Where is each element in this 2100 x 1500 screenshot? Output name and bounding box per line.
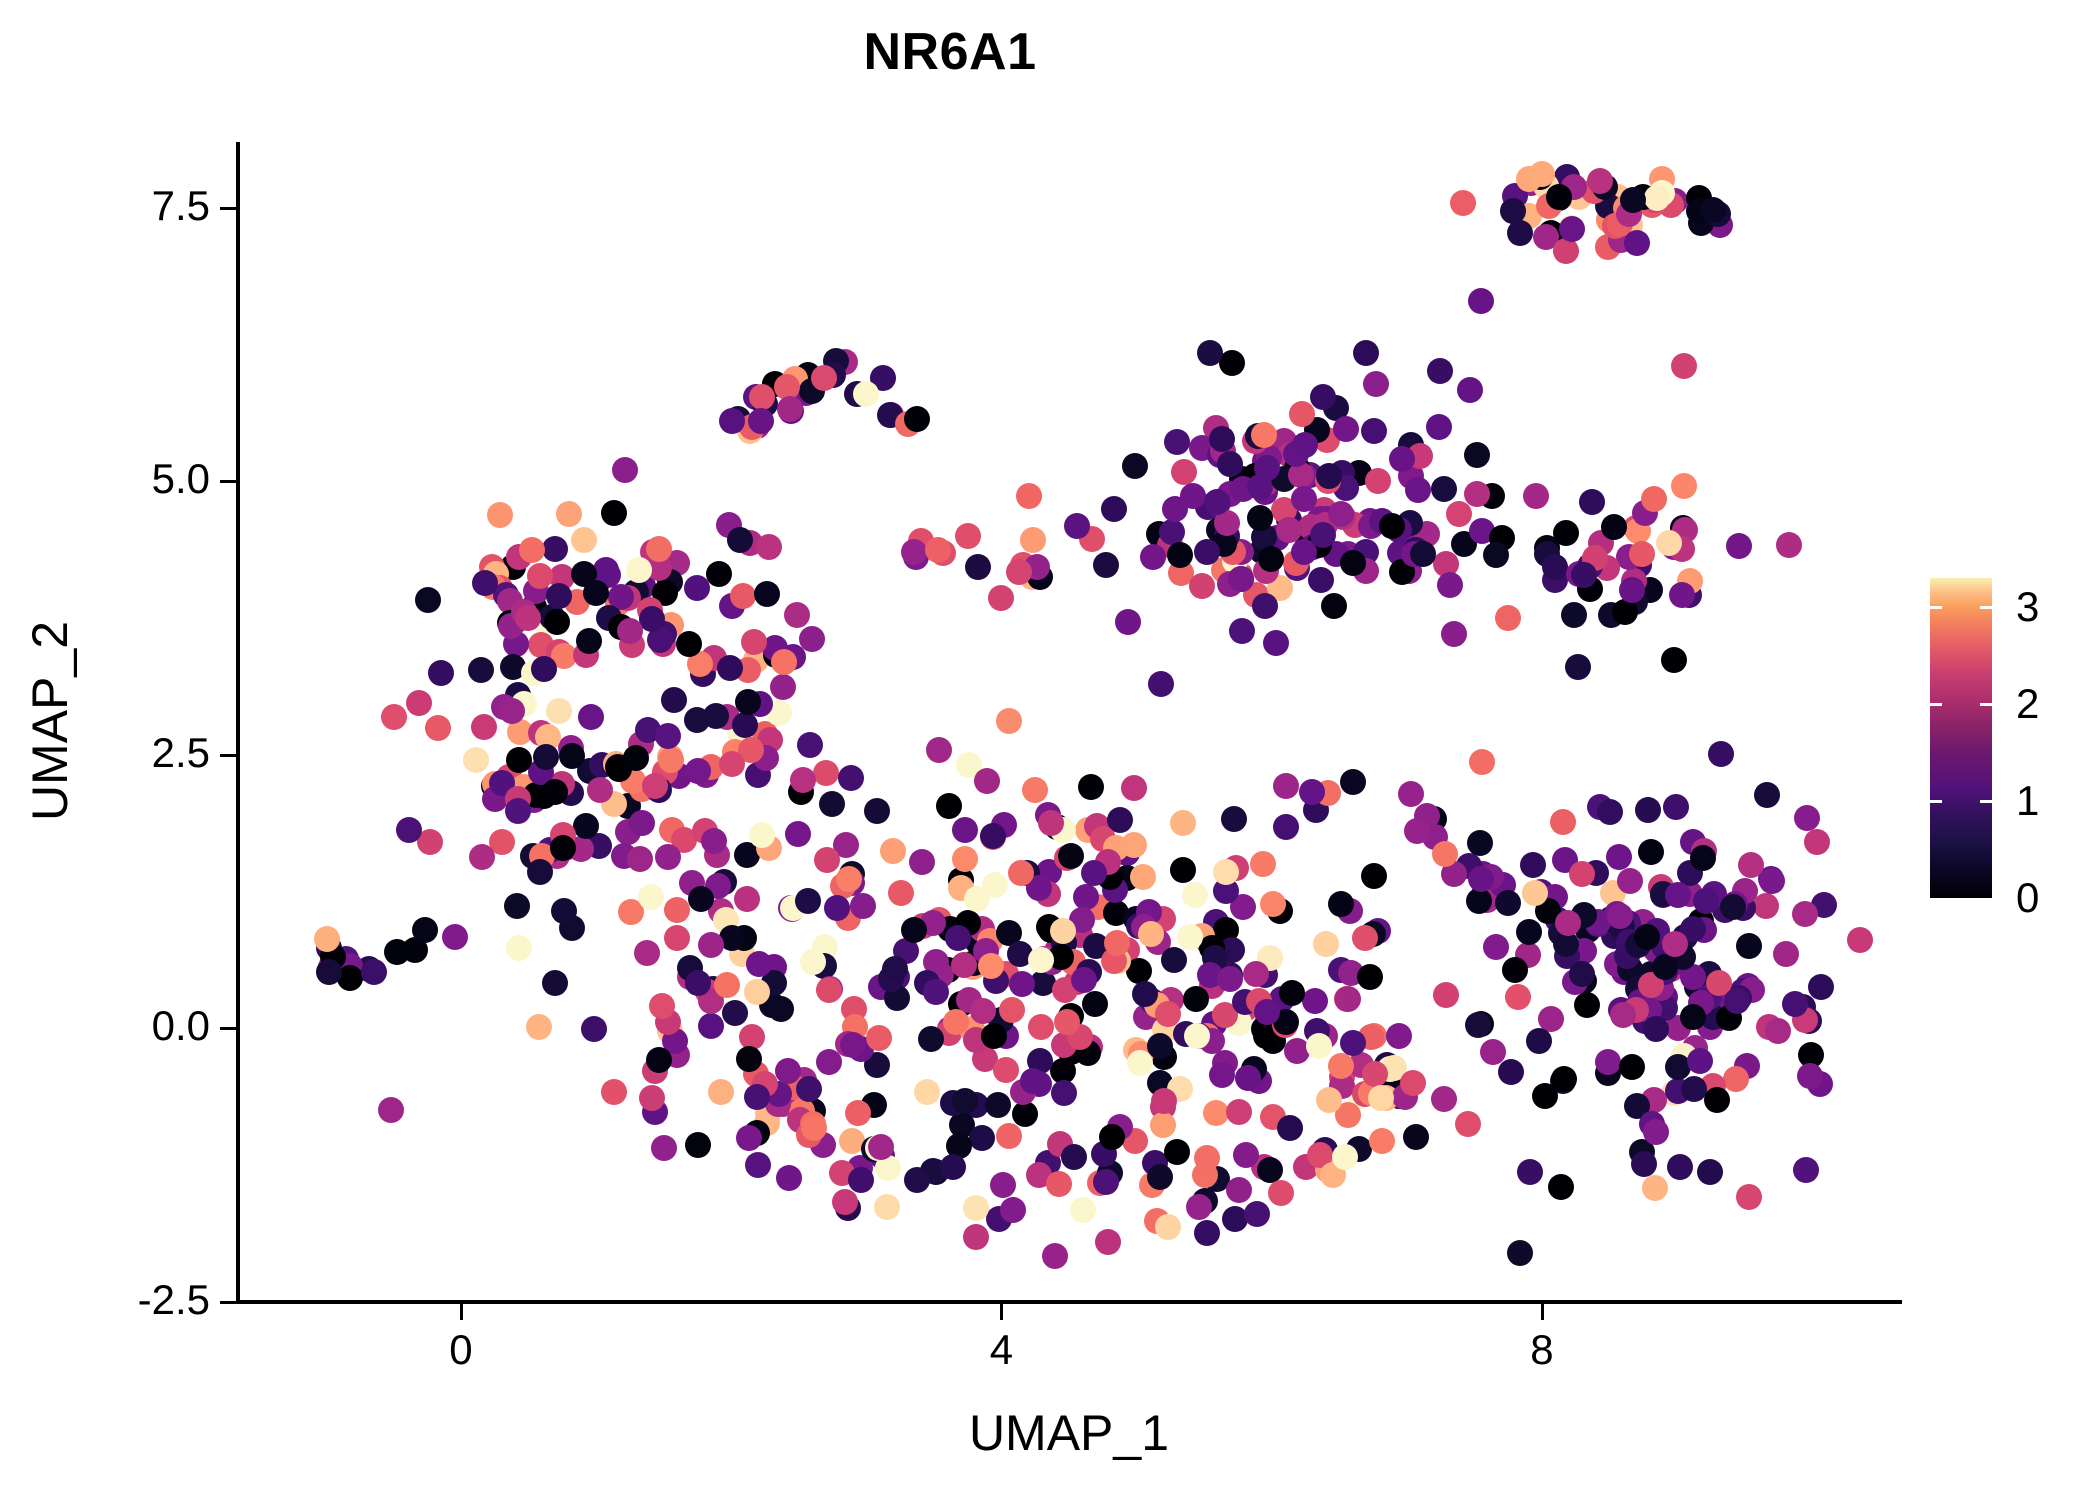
scatter-point — [853, 381, 879, 407]
scatter-point — [734, 886, 760, 912]
scatter-point — [727, 527, 753, 553]
scatter-point — [952, 817, 978, 843]
scatter-point — [428, 660, 454, 686]
scatter-point — [1095, 1229, 1121, 1255]
scatter-point — [639, 606, 665, 632]
scatter-point — [1526, 1028, 1552, 1054]
scatter-point — [1446, 501, 1472, 527]
scatter-point — [698, 1013, 724, 1039]
scatter-point — [1773, 941, 1799, 967]
scatter-point — [1140, 544, 1166, 570]
scatter-point — [1226, 1177, 1252, 1203]
scatter-point — [1663, 794, 1689, 820]
scatter-point — [571, 561, 597, 587]
scatter-point — [1071, 967, 1097, 993]
scatter-point — [634, 940, 660, 966]
scatter-point — [756, 534, 782, 560]
scatter-point — [664, 897, 690, 923]
scatter-point — [1738, 852, 1764, 878]
scatter-point — [796, 1076, 822, 1102]
scatter-point — [504, 893, 530, 919]
scatter-point — [661, 687, 687, 713]
scatter-point — [629, 810, 655, 836]
scatter-point — [978, 953, 1004, 979]
scatter-point — [952, 846, 978, 872]
scatter-point — [1254, 999, 1280, 1025]
scatter-point — [556, 501, 582, 527]
scatter-point — [777, 396, 803, 422]
scatter-point — [1273, 814, 1299, 840]
scatter-point — [1150, 1112, 1176, 1138]
colorbar-tick-label: 2 — [2016, 680, 2039, 728]
scatter-point — [790, 767, 816, 793]
scatter-point — [638, 884, 664, 910]
scatter-point — [745, 1152, 771, 1178]
scatter-point — [1765, 1018, 1791, 1044]
x-tick-label: 0 — [449, 1326, 472, 1374]
scatter-point — [542, 536, 568, 562]
scatter-point — [1667, 1154, 1693, 1180]
scatter-point — [955, 523, 981, 549]
scatter-point — [550, 835, 576, 861]
scatter-point — [1247, 505, 1273, 531]
scatter-point — [1610, 1002, 1636, 1028]
scatter-point — [463, 747, 489, 773]
scatter-point — [612, 457, 638, 483]
scatter-point — [1455, 1111, 1481, 1137]
scatter-point — [425, 715, 451, 741]
scatter-point — [1046, 1171, 1072, 1197]
scatter-point — [996, 708, 1022, 734]
scatter-point — [1016, 483, 1042, 509]
scatter-point — [1569, 961, 1595, 987]
scatter-point — [1643, 1119, 1669, 1145]
scatter-point — [1130, 864, 1156, 890]
scatter-point — [1115, 609, 1141, 635]
scatter-point — [1555, 910, 1581, 936]
page-title: NR6A1 — [0, 22, 1900, 82]
scatter-point — [1529, 161, 1555, 187]
scatter-point — [749, 384, 775, 410]
scatter-point — [1607, 903, 1633, 929]
scatter-point — [655, 844, 681, 870]
scatter-point — [1595, 1049, 1621, 1075]
scatter-point — [527, 563, 553, 589]
scatter-point — [1121, 775, 1147, 801]
scatter-point — [771, 649, 797, 675]
scatter-point — [1617, 868, 1643, 894]
scatter-point — [1571, 562, 1597, 588]
x-tick-mark — [460, 1304, 463, 1320]
scatter-point — [970, 998, 996, 1024]
scatter-point — [746, 951, 772, 977]
scatter-point — [1260, 891, 1286, 917]
scatter-point — [1180, 483, 1206, 509]
scatter-point — [1467, 830, 1493, 856]
scatter-point — [655, 723, 681, 749]
scatter-point — [505, 798, 531, 824]
scatter-point — [1104, 930, 1130, 956]
scatter-point — [1635, 797, 1661, 823]
scatter-point — [1147, 1164, 1173, 1190]
scatter-point — [1020, 1068, 1046, 1094]
scatter-point — [1252, 593, 1278, 619]
scatter-point — [1793, 1157, 1819, 1183]
scatter-point — [874, 1194, 900, 1220]
scatter-point — [1687, 1048, 1713, 1074]
colorbar-tick-mark — [1980, 703, 1992, 706]
scatter-point — [1050, 918, 1076, 944]
scatter-point — [936, 793, 962, 819]
scatter-point — [1792, 901, 1818, 927]
scatter-point — [378, 1097, 404, 1123]
scatter-point — [1204, 489, 1230, 515]
colorbar-tick-label: 0 — [2016, 874, 2039, 922]
scatter-point — [1328, 501, 1354, 527]
colorbar-tick-mark — [1930, 800, 1942, 803]
scatter-point — [1638, 839, 1664, 865]
scatter-point — [1263, 630, 1289, 656]
scatter-point — [754, 581, 780, 607]
scatter-point — [519, 537, 545, 563]
scatter-point — [982, 872, 1008, 898]
scatter-point — [904, 1167, 930, 1193]
scatter-point — [1693, 888, 1719, 914]
scatter-point — [940, 1154, 966, 1180]
scatter-point — [868, 1134, 894, 1160]
scatter-point — [1450, 190, 1476, 216]
scatter-point — [904, 406, 930, 432]
scatter-point — [551, 898, 577, 924]
scatter-point — [901, 539, 927, 565]
scatter-point — [836, 866, 862, 892]
scatter-point — [768, 996, 794, 1022]
scatter-point — [1708, 741, 1734, 767]
scatter-point — [1171, 459, 1197, 485]
scatter-point — [1736, 1184, 1762, 1210]
scatter-point — [1328, 1053, 1354, 1079]
scatter-point — [1310, 384, 1336, 410]
scatter-point — [1250, 851, 1276, 877]
scatter-point — [1147, 1033, 1173, 1059]
scatter-point — [1170, 810, 1196, 836]
scatter-point — [845, 1100, 871, 1126]
scatter-point — [542, 970, 568, 996]
scatter-point — [1619, 1054, 1645, 1080]
scatter-point — [1308, 567, 1334, 593]
scatter-point — [1507, 220, 1533, 246]
scatter-point — [1121, 832, 1147, 858]
scatter-point — [1433, 982, 1459, 1008]
scatter-point — [1597, 799, 1623, 825]
scatter-point — [1379, 513, 1405, 539]
scatter-point — [1505, 984, 1531, 1010]
scatter-point — [735, 689, 761, 715]
scatter-point — [1804, 829, 1830, 855]
scatter-point — [471, 714, 497, 740]
scatter-point — [1619, 577, 1645, 603]
scatter-point — [1273, 773, 1299, 799]
scatter-point — [1148, 671, 1174, 697]
scatter-point — [1164, 429, 1190, 455]
x-tick-label: 4 — [990, 1326, 1013, 1374]
scatter-point — [701, 828, 727, 854]
scatter-point — [685, 758, 711, 784]
scatter-point — [1507, 1240, 1533, 1266]
scatter-point — [1700, 197, 1726, 223]
scatter-point — [1221, 806, 1247, 832]
scatter-point — [685, 1132, 711, 1158]
scatter-point — [1400, 1070, 1426, 1096]
scatter-point — [546, 583, 572, 609]
scatter-point — [799, 626, 825, 652]
scatter-point — [1680, 1004, 1706, 1030]
scatter-point — [1302, 988, 1328, 1014]
scatter-point — [730, 583, 756, 609]
scatter-point — [943, 1009, 969, 1035]
scatter-point — [1182, 882, 1208, 908]
colorbar-tick-mark — [1930, 703, 1942, 706]
scatter-point — [741, 629, 767, 655]
scatter-point — [1502, 957, 1528, 983]
scatter-point — [1061, 1144, 1087, 1170]
scatter-point — [1469, 749, 1495, 775]
scatter-point — [1559, 216, 1585, 242]
scatter-point — [515, 605, 541, 631]
scatter-point — [776, 1165, 802, 1191]
scatter-point — [1213, 859, 1239, 885]
colorbar-tick-label: 1 — [2016, 777, 2039, 825]
scatter-point — [1629, 541, 1655, 567]
scatter-point — [469, 844, 495, 870]
scatter-point — [587, 777, 613, 803]
scatter-point — [813, 760, 839, 786]
scatter-point — [926, 737, 952, 763]
scatter-point — [749, 822, 775, 848]
scatter-point — [1028, 1014, 1054, 1040]
scatter-point — [1665, 882, 1691, 908]
scatter-point — [1432, 841, 1458, 867]
x-tick-mark — [1000, 1304, 1003, 1320]
scatter-point — [1184, 1023, 1210, 1049]
scatter-point — [581, 1016, 607, 1042]
scatter-point — [573, 813, 599, 839]
scatter-point — [1776, 532, 1802, 558]
scatter-point — [736, 1046, 762, 1072]
scatter-point — [1020, 527, 1046, 553]
scatter-point — [901, 917, 927, 943]
scatter-point — [1340, 769, 1366, 795]
scatter-point — [785, 821, 811, 847]
scatter-point — [316, 959, 342, 985]
scatter-point — [1465, 1012, 1491, 1038]
scatter-point — [649, 993, 675, 1019]
scatter-point — [1333, 416, 1359, 442]
data-points-layer — [238, 142, 1900, 1302]
scatter-point — [639, 1085, 665, 1111]
scatter-point — [1194, 1220, 1220, 1246]
scatter-point — [963, 1224, 989, 1250]
scatter-point — [1093, 1169, 1119, 1195]
y-tick-mark — [220, 754, 236, 757]
scatter-point — [1028, 947, 1054, 973]
scatter-point — [1189, 573, 1215, 599]
scatter-point — [542, 779, 568, 805]
scatter-point — [1644, 185, 1670, 211]
scatter-point — [442, 924, 468, 950]
scatter-point — [708, 1079, 734, 1105]
scatter-point — [1038, 810, 1064, 836]
scatter-point — [646, 536, 672, 562]
scatter-point — [866, 1025, 892, 1051]
scatter-point — [626, 557, 652, 583]
scatter-point — [1070, 1197, 1096, 1223]
scatter-point — [864, 798, 890, 824]
scatter-point — [1365, 468, 1391, 494]
scatter-point — [1671, 473, 1697, 499]
scatter-point — [1587, 168, 1613, 194]
scatter-point — [748, 408, 774, 434]
scatter-point — [1606, 844, 1632, 870]
scatter-point — [800, 949, 826, 975]
scatter-point — [1289, 401, 1315, 427]
scatter-point — [1523, 483, 1549, 509]
scatter-point — [832, 1189, 858, 1215]
scatter-point — [1254, 455, 1280, 481]
scatter-point — [1151, 1088, 1177, 1114]
scatter-point — [506, 935, 532, 961]
scatter-point — [918, 1026, 944, 1052]
scatter-point — [736, 1125, 762, 1151]
scatter-point — [1661, 647, 1687, 673]
scatter-point — [1161, 947, 1187, 973]
scatter-point — [1369, 1128, 1395, 1154]
scatter-point — [1522, 880, 1548, 906]
scatter-point — [969, 1125, 995, 1151]
scatter-point — [1641, 486, 1667, 512]
scatter-point — [981, 1023, 1007, 1049]
scatter-point — [1495, 890, 1521, 916]
y-tick-mark — [220, 1301, 236, 1304]
scatter-point — [1167, 542, 1193, 568]
scatter-point — [1723, 1066, 1749, 1092]
scatter-point — [714, 972, 740, 998]
scatter-point — [1321, 593, 1347, 619]
scatter-point — [1363, 371, 1389, 397]
scatter-point — [499, 698, 525, 724]
scatter-point — [1368, 1085, 1394, 1111]
scatter-point — [1389, 446, 1415, 472]
scatter-point — [623, 745, 649, 771]
scatter-point — [1754, 782, 1780, 808]
colorbar-legend: 0123 — [1930, 578, 2080, 900]
scatter-point — [601, 1079, 627, 1105]
scatter-point — [1403, 1124, 1429, 1150]
scatter-point — [801, 1115, 827, 1141]
scatter-point — [703, 703, 729, 729]
scatter-point — [1155, 1001, 1181, 1027]
scatter-point — [1847, 927, 1873, 953]
scatter-point — [1386, 1023, 1412, 1049]
scatter-point — [1726, 533, 1752, 559]
scatter-point — [1073, 884, 1099, 910]
scatter-point — [848, 1167, 874, 1193]
y-tick-mark — [220, 1027, 236, 1030]
scatter-point — [1546, 184, 1572, 210]
scatter-point — [1426, 414, 1452, 440]
scatter-point — [1233, 1142, 1259, 1168]
scatter-point — [1042, 1243, 1068, 1269]
scatter-point — [1634, 924, 1660, 950]
scatter-point — [531, 656, 557, 682]
scatter-point — [685, 970, 711, 996]
scatter-point — [1292, 432, 1318, 458]
scatter-point — [1361, 863, 1387, 889]
scatter-point — [1361, 418, 1387, 444]
scatter-point — [688, 886, 714, 912]
scatter-point — [719, 751, 745, 777]
scatter-point — [1197, 340, 1223, 366]
scatter-point — [1209, 1062, 1235, 1088]
scatter-point — [1093, 552, 1119, 578]
colorbar-tick-mark — [1980, 800, 1992, 803]
scatter-point — [1219, 350, 1245, 376]
scatter-point — [396, 817, 422, 843]
scatter-point — [506, 747, 532, 773]
scatter-point — [1398, 781, 1424, 807]
x-tick-label: 8 — [1530, 1326, 1553, 1374]
scatter-point — [1258, 546, 1284, 572]
scatter-point — [1431, 476, 1457, 502]
scatter-point — [1427, 358, 1453, 384]
scatter-point — [1064, 513, 1090, 539]
scatter-point — [1008, 860, 1034, 886]
scatter-point — [882, 956, 908, 982]
scatter-point — [1352, 925, 1378, 951]
scatter-point — [1652, 954, 1678, 980]
scatter-point — [1550, 809, 1576, 835]
scatter-point — [1662, 931, 1688, 957]
scatter-point — [1612, 599, 1638, 625]
scatter-point — [1797, 1063, 1823, 1089]
scatter-point — [1601, 514, 1627, 540]
scatter-point — [1291, 486, 1317, 512]
scatter-plot-panel — [238, 142, 1900, 1302]
y-axis-line — [236, 142, 240, 1304]
scatter-point — [1656, 530, 1682, 556]
scatter-point — [1516, 919, 1542, 945]
scatter-point — [415, 587, 441, 613]
scatter-point — [698, 932, 724, 958]
scatter-point — [880, 838, 906, 864]
scatter-point — [601, 500, 627, 526]
scatter-point — [945, 925, 971, 951]
scatter-point — [617, 618, 643, 644]
scatter-point — [963, 1195, 989, 1221]
y-tick-mark — [220, 480, 236, 483]
scatter-point — [999, 997, 1025, 1023]
scatter-point — [988, 585, 1014, 611]
colorbar-tick-mark — [1930, 606, 1942, 609]
scatter-point — [980, 823, 1006, 849]
scatter-point — [909, 849, 935, 875]
scatter-point — [1441, 621, 1467, 647]
scatter-point — [1000, 1197, 1026, 1223]
scatter-point — [1194, 539, 1220, 565]
scatter-point — [472, 570, 498, 596]
scatter-point — [1209, 426, 1235, 452]
scatter-point — [1542, 554, 1568, 580]
